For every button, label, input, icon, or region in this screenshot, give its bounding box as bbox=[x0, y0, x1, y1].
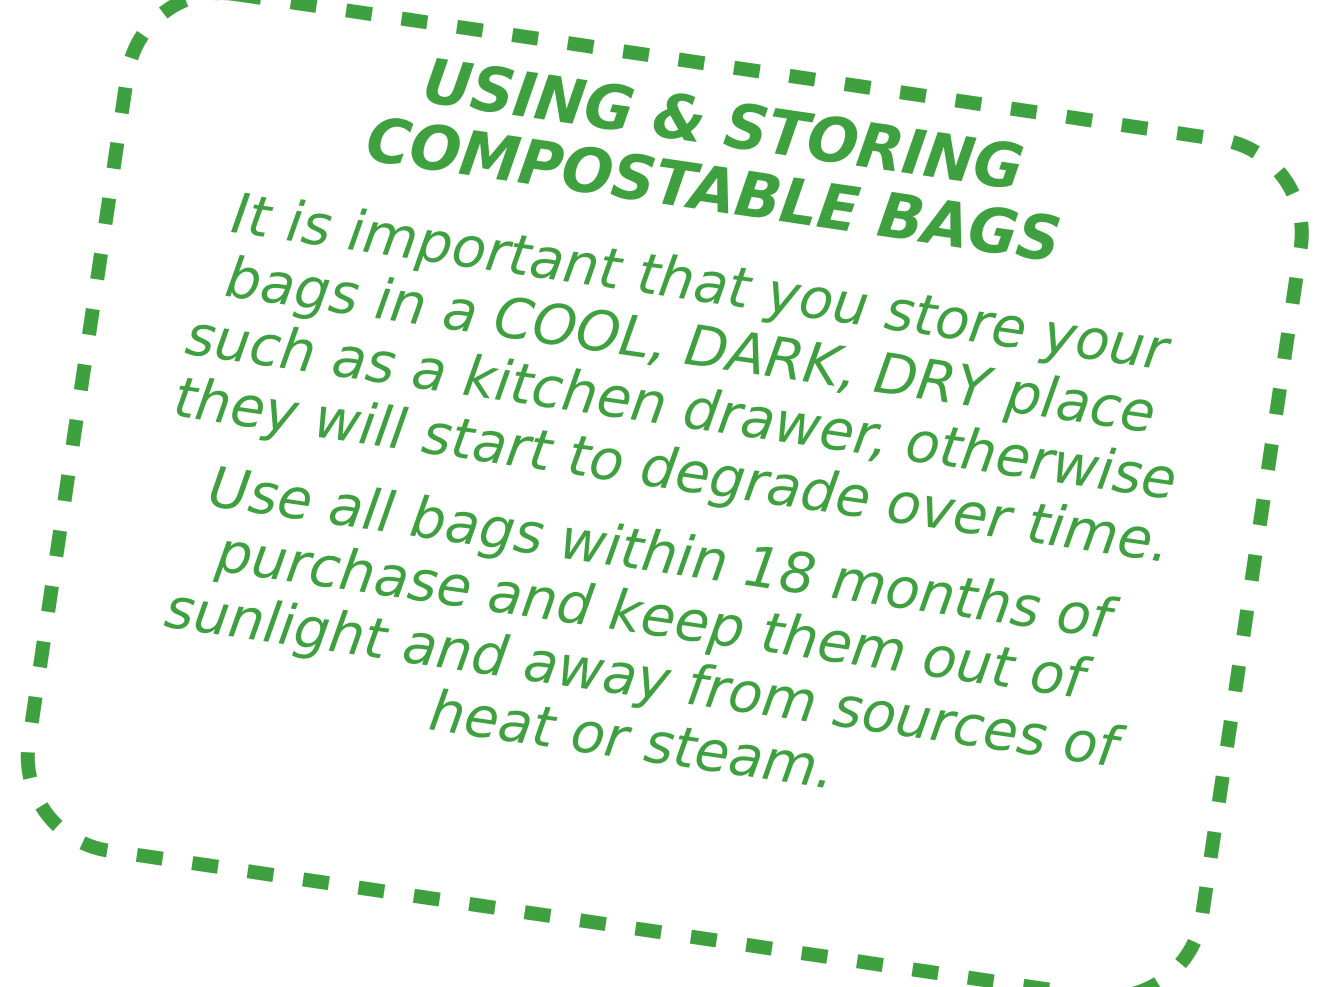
label-text-block: USING & STORING COMPOSTABLE BAGS It is i… bbox=[44, 0, 1303, 958]
label-card: USING & STORING COMPOSTABLE BAGS It is i… bbox=[0, 0, 1328, 987]
